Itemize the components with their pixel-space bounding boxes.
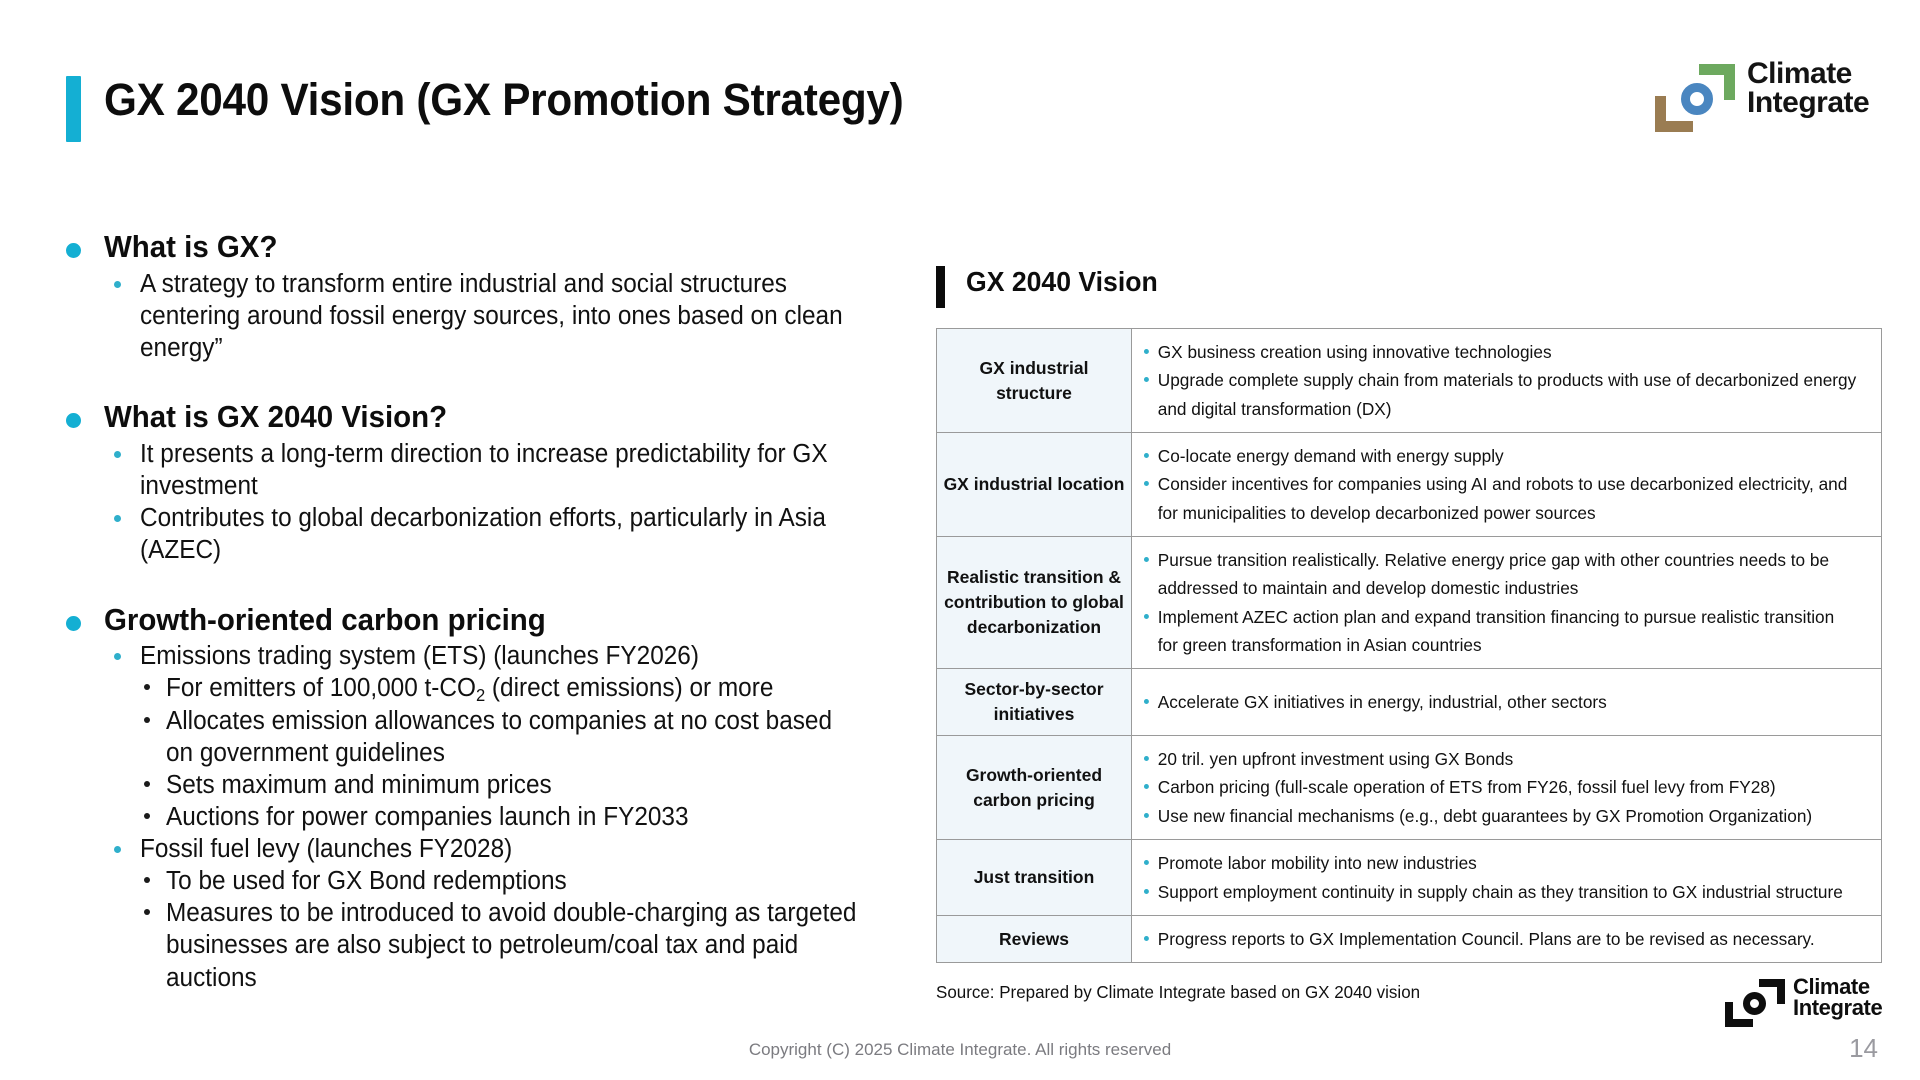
detail-list: Promote labor mobility into new industri… bbox=[1142, 849, 1869, 906]
heading-text: What is GX? bbox=[104, 228, 853, 266]
bullet-text: A strategy to transform entire industria… bbox=[140, 268, 858, 364]
section-heading-growth-oriented-carbon-pricing: Growth-oriented carbon pricing bbox=[62, 601, 892, 639]
list-item: Carbon pricing (full-scale operation of … bbox=[1142, 773, 1858, 801]
logo-ring-icon bbox=[1743, 992, 1766, 1015]
table-row-details: Promote labor mobility into new industri… bbox=[1132, 840, 1882, 916]
logo-wordmark: Climate Integrate bbox=[1793, 976, 1882, 1018]
list-item: Support employment continuity in supply … bbox=[1142, 878, 1858, 906]
logo-line-1: Climate bbox=[1747, 60, 1869, 89]
detail-list: Progress reports to GX Implementation Co… bbox=[1142, 925, 1869, 953]
bullet-dot-icon bbox=[144, 909, 150, 915]
bullet-dot-icon bbox=[144, 781, 150, 787]
bullet-dot-icon bbox=[144, 684, 150, 690]
bullet-text: Sets maximum and minimum prices bbox=[166, 769, 859, 801]
bullet-text: Fossil fuel levy (launches FY2028) bbox=[140, 833, 858, 865]
bullet-dot-icon bbox=[66, 616, 81, 631]
climate-integrate-logo-mono: Climate Integrate bbox=[1725, 975, 1920, 1031]
list-item: Progress reports to GX Implementation Co… bbox=[1142, 925, 1858, 953]
list-item: Pursue transition realistically. Relativ… bbox=[1142, 546, 1858, 603]
spacer bbox=[62, 567, 892, 601]
logo-blue-ring-icon bbox=[1681, 83, 1713, 115]
heading-text: What is GX 2040 Vision? bbox=[104, 398, 853, 436]
bullet-text: Emissions trading system (ETS) (launches… bbox=[140, 640, 858, 672]
bullet-double-charging: Measures to be introduced to avoid doubl… bbox=[62, 897, 892, 993]
detail-list: 20 tril. yen upfront investment using GX… bbox=[1142, 745, 1869, 830]
title-accent-bar bbox=[66, 76, 81, 142]
bullet-gx-definition: A strategy to transform entire industria… bbox=[62, 268, 892, 364]
bullet-dot-icon bbox=[66, 243, 81, 258]
table-row-category: Realistic transition & contribution to g… bbox=[937, 537, 1132, 669]
copyright-text: Copyright (C) 2025 Climate Integrate. Al… bbox=[0, 1040, 1920, 1060]
bullet-long-term-direction: It presents a long-term direction to inc… bbox=[62, 438, 892, 502]
detail-list: Co-locate energy demand with energy supp… bbox=[1142, 442, 1869, 527]
logo-wordmark: Climate Integrate bbox=[1747, 60, 1869, 118]
table-row: ReviewsProgress reports to GX Implementa… bbox=[937, 915, 1882, 962]
table-row-details: Accelerate GX initiatives in energy, ind… bbox=[1132, 669, 1882, 736]
table-row-category: Sector-by-sector initiatives bbox=[937, 669, 1132, 736]
climate-integrate-logo: Climate Integrate bbox=[1655, 58, 1905, 138]
list-item: Co-locate energy demand with energy supp… bbox=[1142, 442, 1858, 470]
panel-title: GX 2040 Vision bbox=[966, 266, 1158, 298]
table-row-details: GX business creation using innovative te… bbox=[1132, 329, 1882, 433]
heading-text: Growth-oriented carbon pricing bbox=[104, 601, 853, 639]
bullet-text: Allocates emission allowances to compani… bbox=[166, 705, 859, 769]
table-row-category: Just transition bbox=[937, 840, 1132, 916]
bullet-text: Contributes to global decarbonization ef… bbox=[140, 502, 858, 566]
table-row: Growth-oriented carbon pricing20 tril. y… bbox=[937, 736, 1882, 840]
bullet-dot-icon bbox=[114, 281, 121, 288]
logo-line-2: Integrate bbox=[1793, 997, 1882, 1018]
bullet-dot-icon bbox=[114, 653, 121, 660]
slide-header: GX 2040 Vision (GX Promotion Strategy) C… bbox=[0, 0, 1920, 170]
section-heading-what-is-gx-2040-vision: What is GX 2040 Vision? bbox=[62, 398, 892, 436]
bullet-global-decarbonization: Contributes to global decarbonization ef… bbox=[62, 502, 892, 566]
bullet-text: To be used for GX Bond redemptions bbox=[166, 865, 859, 897]
table-row: Realistic transition & contribution to g… bbox=[937, 537, 1882, 669]
bullet-free-allocation: Allocates emission allowances to compani… bbox=[62, 705, 892, 769]
table-row-category: Reviews bbox=[937, 915, 1132, 962]
bullet-text: It presents a long-term direction to inc… bbox=[140, 438, 858, 502]
vision-panel-header: GX 2040 Vision bbox=[936, 262, 1882, 320]
detail-list: Pursue transition realistically. Relativ… bbox=[1142, 546, 1869, 659]
table-row-details: Co-locate energy demand with energy supp… bbox=[1132, 433, 1882, 537]
table-row: GX industrial structureGX business creat… bbox=[937, 329, 1882, 433]
table-row-category: Growth-oriented carbon pricing bbox=[937, 736, 1132, 840]
bullet-price-caps: Sets maximum and minimum prices bbox=[62, 769, 892, 801]
bullet-power-auctions: Auctions for power companies launch in F… bbox=[62, 801, 892, 833]
logo-mark-icon bbox=[1725, 979, 1787, 1027]
table-row: Sector-by-sector initiativesAccelerate G… bbox=[937, 669, 1882, 736]
section-heading-what-is-gx: What is GX? bbox=[62, 228, 892, 266]
logo-mark-icon bbox=[1655, 64, 1739, 132]
bullet-text: Measures to be introduced to avoid doubl… bbox=[166, 897, 859, 993]
list-item: Implement AZEC action plan and expand tr… bbox=[1142, 603, 1858, 660]
bullet-dot-icon bbox=[114, 515, 121, 522]
bullet-dot-icon bbox=[144, 717, 150, 723]
bullet-dot-icon bbox=[114, 451, 121, 458]
table-row-details: Pursue transition realistically. Relativ… bbox=[1132, 537, 1882, 669]
table-row-category: GX industrial structure bbox=[937, 329, 1132, 433]
bullet-emitters-threshold: For emitters of 100,000 t-CO2 (direct em… bbox=[62, 672, 892, 704]
detail-list: GX business creation using innovative te… bbox=[1142, 338, 1869, 423]
bullet-gx-bond-redemption: To be used for GX Bond redemptions bbox=[62, 865, 892, 897]
table-row-details: 20 tril. yen upfront investment using GX… bbox=[1132, 736, 1882, 840]
bullet-dot-icon bbox=[144, 877, 150, 883]
list-item: Use new financial mechanisms (e.g., debt… bbox=[1142, 802, 1858, 830]
panel-accent-bar bbox=[936, 266, 945, 308]
list-item: Promote labor mobility into new industri… bbox=[1142, 849, 1858, 877]
page-number: 14 bbox=[1849, 1033, 1878, 1064]
bullet-dot-icon bbox=[66, 413, 81, 428]
list-item: Consider incentives for companies using … bbox=[1142, 470, 1858, 527]
detail-list: Accelerate GX initiatives in energy, ind… bbox=[1142, 688, 1869, 716]
list-item: 20 tril. yen upfront investment using GX… bbox=[1142, 745, 1858, 773]
table-row-category: GX industrial location bbox=[937, 433, 1132, 537]
bullet-dot-icon bbox=[114, 846, 121, 853]
bullet-text: Auctions for power companies launch in F… bbox=[166, 801, 859, 833]
bullet-fossil-fuel-levy: Fossil fuel levy (launches FY2028) bbox=[62, 833, 892, 865]
left-content-column: What is GX? A strategy to transform enti… bbox=[62, 228, 892, 994]
list-item: GX business creation using innovative te… bbox=[1142, 338, 1858, 366]
table-row: Just transitionPromote labor mobility in… bbox=[937, 840, 1882, 916]
logo-line-1: Climate bbox=[1793, 976, 1882, 997]
logo-line-2: Integrate bbox=[1747, 89, 1869, 118]
bullet-dot-icon bbox=[144, 813, 150, 819]
spacer bbox=[62, 364, 892, 398]
source-note: Source: Prepared by Climate Integrate ba… bbox=[936, 982, 1420, 1003]
bullet-ets: Emissions trading system (ETS) (launches… bbox=[62, 640, 892, 672]
list-item: Accelerate GX initiatives in energy, ind… bbox=[1142, 688, 1858, 716]
table-row: GX industrial locationCo-locate energy d… bbox=[937, 433, 1882, 537]
list-item: Upgrade complete supply chain from mater… bbox=[1142, 366, 1858, 423]
table-row-details: Progress reports to GX Implementation Co… bbox=[1132, 915, 1882, 962]
gx-vision-table: GX industrial structureGX business creat… bbox=[936, 328, 1882, 963]
right-content-column: GX 2040 Vision GX industrial structureGX… bbox=[936, 262, 1882, 963]
bullet-text: For emitters of 100,000 t-CO2 (direct em… bbox=[166, 672, 859, 704]
page-title: GX 2040 Vision (GX Promotion Strategy) bbox=[104, 74, 903, 126]
